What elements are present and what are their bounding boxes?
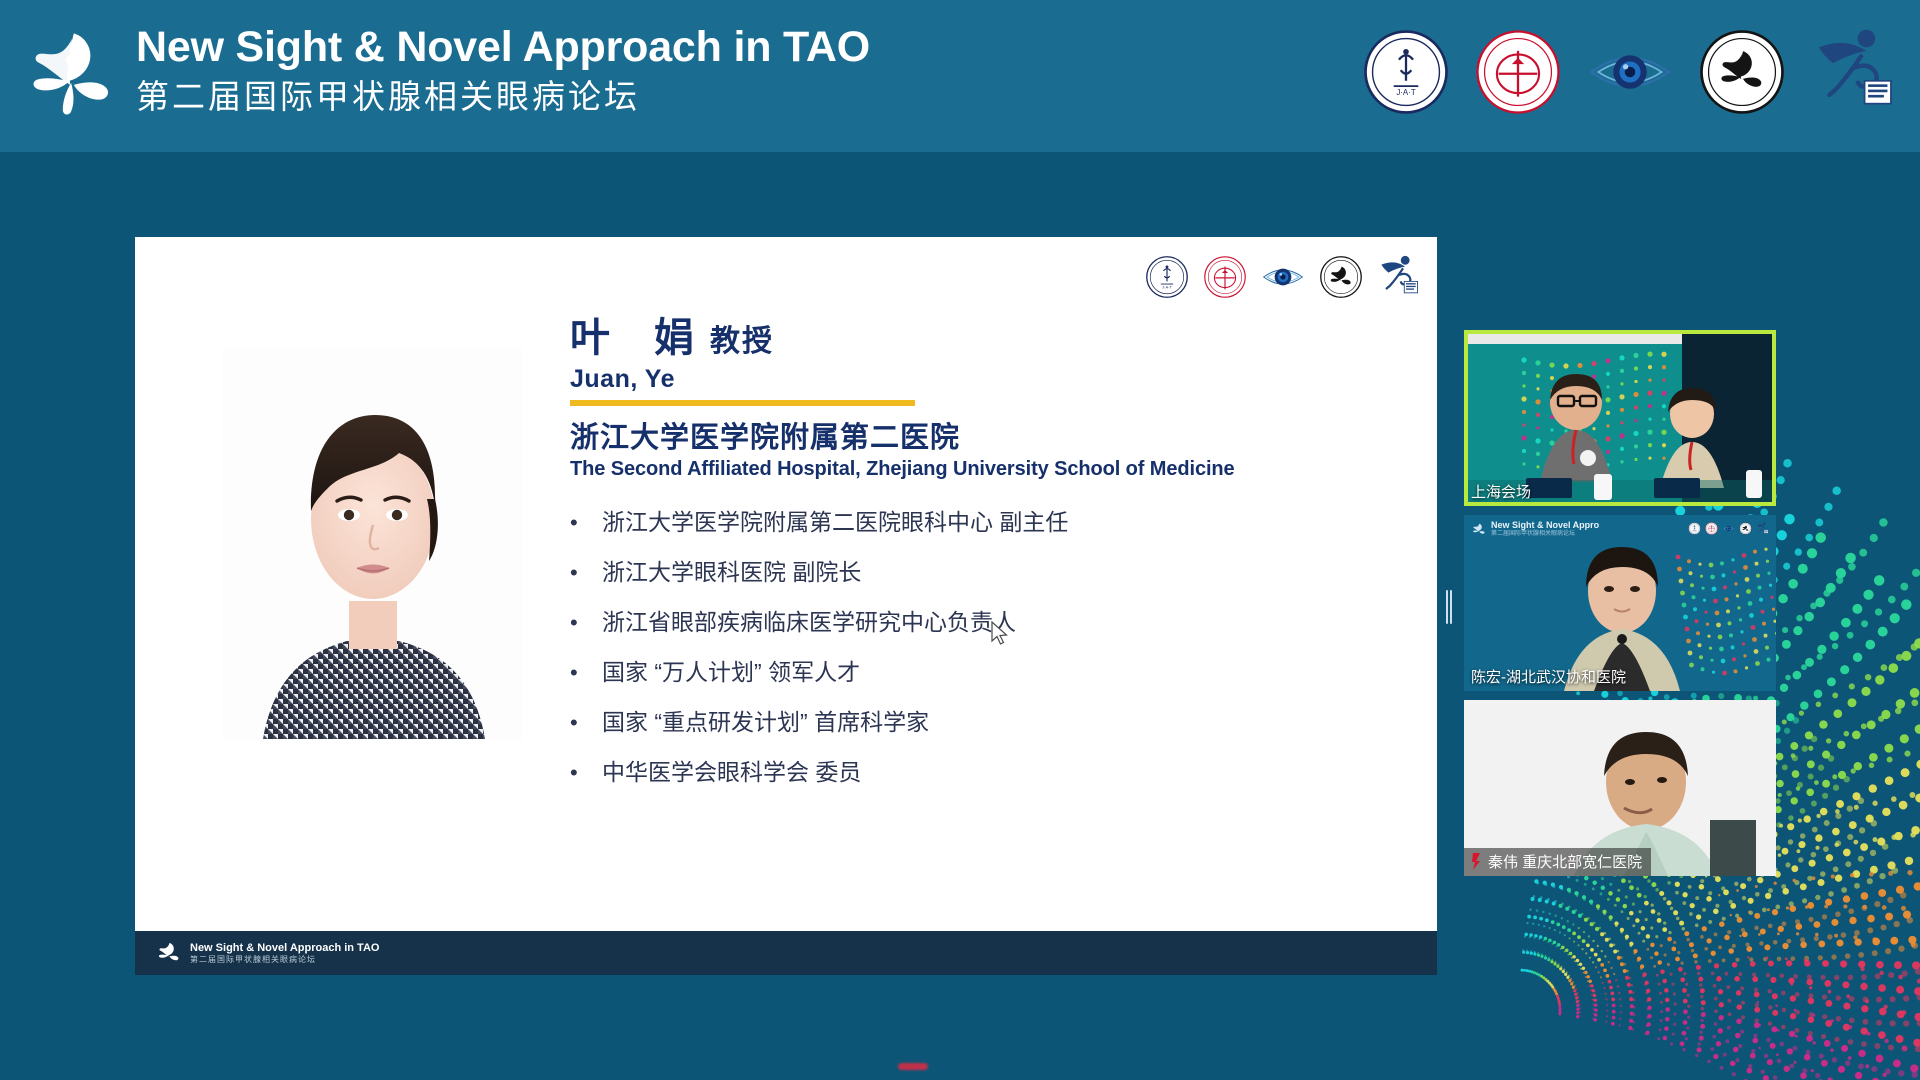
speaker-org-cn: 浙江大学医学院附属第二医院 xyxy=(570,414,1370,456)
credential-item: •中华医学会眼科学会 委员 xyxy=(570,761,1370,784)
credential-item: •浙江大学眼科医院 副院长 xyxy=(570,561,1370,584)
emblem-red-cross-hospital xyxy=(1203,255,1247,299)
video-brand-title: New Sight & Novel Appro xyxy=(1491,521,1599,531)
speaker-name-en: Juan, Ye xyxy=(570,365,1370,394)
svg-text:J·A·T: J·A·T xyxy=(1162,284,1172,289)
bottom-accent-pill xyxy=(898,1063,928,1070)
slide-footer: New Sight & Novel Approach in TAO 第二届国际甲… xyxy=(135,931,1437,975)
panel-resize-handle[interactable] xyxy=(1446,590,1452,624)
butterfly-logo-icon xyxy=(157,940,181,966)
video-label-text: 秦伟 重庆北部宽仁医院 xyxy=(1488,851,1642,872)
emblem-caduceus-wing xyxy=(1377,255,1421,299)
video-brand-subtitle: 第二届国际甲状腺相关眼病论坛 xyxy=(1491,531,1599,538)
video-label-text: 上海会场 xyxy=(1471,481,1531,502)
header-emblem-row: J·A·T xyxy=(1362,28,1898,116)
emblem-butterfly-society xyxy=(1319,255,1363,299)
bullet-marker-icon: • xyxy=(570,762,602,784)
credential-item: •浙江大学医学院附属第二医院眼科中心 副主任 xyxy=(570,511,1370,534)
butterfly-logo-icon xyxy=(26,22,118,122)
emblem-jat-hospital: J·A·T xyxy=(1688,522,1701,535)
slide-emblem-row: J·A·T xyxy=(1145,255,1421,299)
emblem-caduceus-wing xyxy=(1810,28,1898,116)
emblem-caduceus-wing xyxy=(1756,522,1769,535)
emblem-eye-institute xyxy=(1722,522,1735,535)
emblem-jat-hospital: J·A·T xyxy=(1145,255,1189,299)
video-emblem-row: J·A·T xyxy=(1688,522,1769,535)
speaker-name-cn: 叶 娟 xyxy=(570,316,696,360)
credential-item: •浙江省眼部疾病临床医学研究中心负责人 xyxy=(570,611,1370,634)
emblem-butterfly-society xyxy=(1739,522,1752,535)
mouse-cursor-icon xyxy=(990,621,1010,647)
video-tile-chen-hong[interactable]: New Sight & Novel Appro 第二届国际甲状腺相关眼病论坛 J… xyxy=(1464,515,1776,691)
emblem-red-cross-hospital xyxy=(1474,28,1562,116)
speaker-portrait-photo xyxy=(223,349,523,739)
speaker-title-cn: 教授 xyxy=(710,325,774,358)
speaker-credentials-list: •浙江大学医学院附属第二医院眼科中心 副主任•浙江大学眼科医院 副院长•浙江省眼… xyxy=(570,511,1370,784)
conference-title: New Sight & Novel Approach in TAO xyxy=(136,22,870,73)
video-participant-label: 上海会场 xyxy=(1464,478,1540,506)
credential-text: 国家 “万人计划” 领军人才 xyxy=(602,661,860,684)
emblem-eye-institute xyxy=(1261,255,1305,299)
credential-text: 浙江大学医学院附属第二医院眼科中心 副主任 xyxy=(602,511,1068,534)
credential-item: •国家 “万人计划” 领军人才 xyxy=(570,661,1370,684)
bullet-marker-icon: • xyxy=(570,562,602,584)
credential-text: 国家 “重点研发计划” 首席科学家 xyxy=(602,711,929,734)
emblem-red-cross-hospital xyxy=(1705,522,1718,535)
conference-subtitle: 第二届国际甲状腺相关眼病论坛 xyxy=(136,75,870,120)
credential-text: 浙江省眼部疾病临床医学研究中心负责人 xyxy=(602,611,1016,634)
video-tile-shanghai-venue[interactable]: 上海会场 xyxy=(1464,330,1776,506)
video-tile-qin-wei[interactable]: 秦伟 重庆北部宽仁医院 xyxy=(1464,700,1776,876)
slide-footer-subtitle: 第二届国际甲状腺相关眼病论坛 xyxy=(190,955,379,965)
bullet-marker-icon: • xyxy=(570,712,602,734)
bullet-marker-icon: • xyxy=(570,612,602,634)
emblem-eye-institute xyxy=(1586,28,1674,116)
video-participant-label: 秦伟 重庆北部宽仁医院 xyxy=(1464,848,1651,876)
video-participant-label: 陈宏-湖北武汉协和医院 xyxy=(1464,663,1635,691)
video-label-text: 陈宏-湖北武汉协和医院 xyxy=(1471,666,1626,687)
slide-footer-title: New Sight & Novel Approach in TAO xyxy=(190,942,379,955)
speaker-org-en: The Second Affiliated Hospital, Zhejiang… xyxy=(570,458,1370,481)
credential-text: 中华医学会眼科学会 委员 xyxy=(602,761,861,784)
svg-text:J·A·T: J·A·T xyxy=(1396,88,1415,97)
accent-rule xyxy=(570,400,915,406)
presentation-slide[interactable]: J·A·T xyxy=(135,237,1437,975)
bullet-marker-icon: • xyxy=(570,512,602,534)
participant-video-list: 上海会场 New Sight & Novel Appro 第二届国际甲状腺相关眼… xyxy=(1464,330,1776,885)
conference-header: New Sight & Novel Approach in TAO 第二届国际甲… xyxy=(0,0,1920,152)
butterfly-logo-icon xyxy=(1472,522,1486,537)
speaker-info-block: 叶 娟教授 Juan, Ye 浙江大学医学院附属第二医院 The Second … xyxy=(570,315,1370,811)
speaker-name-cn-row: 叶 娟教授 xyxy=(570,315,1370,361)
video-brand-watermark: New Sight & Novel Appro 第二届国际甲状腺相关眼病论坛 xyxy=(1472,521,1599,538)
header-text-block: New Sight & Novel Approach in TAO 第二届国际甲… xyxy=(136,22,870,119)
credential-text: 浙江大学眼科医院 副院长 xyxy=(602,561,861,584)
emblem-butterfly-society xyxy=(1698,28,1786,116)
bullet-marker-icon: • xyxy=(570,662,602,684)
red-flag-icon xyxy=(1471,853,1482,870)
emblem-jat-hospital: J·A·T xyxy=(1362,28,1450,116)
credential-item: •国家 “重点研发计划” 首席科学家 xyxy=(570,711,1370,734)
